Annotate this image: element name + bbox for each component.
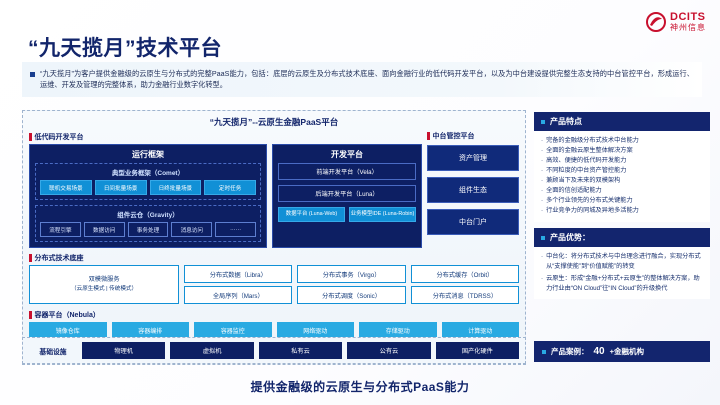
infrastructure-label: 基础设施 (29, 346, 77, 356)
feature-item: ·行业竞争力的同城及异地多活能力 (541, 206, 703, 216)
runtime-head: 运行框架 (30, 145, 266, 163)
tech-cell-libra[interactable]: 分布式数据（Libra） (184, 265, 292, 283)
tech-cell-sonic[interactable]: 分布式调度（Sonic） (297, 286, 405, 304)
section-label-midplatform: 中台管控平台 (427, 131, 519, 141)
gravity-chip[interactable]: …… (215, 222, 256, 237)
gravity-group: 组件云仓（Gravity） 流程引擎 数据访问 事务处理 消息访问 …… (35, 205, 261, 242)
architecture-diagram: “九天揽月”--云原生金融PaaS平台 低代码开发平台 运行框架 典型业务框架（… (22, 110, 526, 365)
gravity-title: 组件云仓（Gravity） (40, 209, 256, 219)
dot-icon: · (541, 206, 543, 216)
dot-icon: · (541, 196, 543, 206)
section-marker-icon (29, 311, 32, 319)
midplatform-portal[interactable]: 中台门户 (427, 209, 519, 235)
brand-logo: DCITS 神州信息 (646, 12, 706, 32)
case-suffix: +金融机构 (610, 346, 644, 357)
dev-platform-card: 开发平台 前端开发平台（Vela） 后端开发平台（Luna） 数据平台 (Lun… (272, 144, 422, 248)
dot-icon: · (541, 186, 543, 196)
footer-tagline: 提供金融级的云原生与分布式PaaS能力 (0, 378, 720, 395)
feature-item: ·完备的金融级分布式技术中台能力 (541, 136, 703, 146)
tech-cell-tdrss[interactable]: 分布式消息（TDRSS） (411, 286, 519, 304)
luna-web-card[interactable]: 数据平台 (Luna-Web) (278, 207, 345, 222)
advantages-panel: 产品优势： ·中台化：将分布式技术与中台理念进行融合，实现分布式从“支撑使能”到… (534, 228, 710, 299)
infra-cell-domestic-hardware[interactable]: 国产化硬件 (436, 342, 519, 359)
gravity-chip[interactable]: 流程引擎 (40, 222, 81, 237)
back-dev-platform[interactable]: 后端开发平台（Luna） (278, 185, 416, 202)
section-label-container: 容器平台（Nebula） (29, 310, 525, 320)
feature-item: ·全面的信创适配能力 (541, 186, 703, 196)
bullet-square-icon (541, 236, 545, 240)
dot-icon: · (541, 156, 543, 166)
comet-chip[interactable]: 日终批量场景 (150, 180, 202, 195)
comet-chip[interactable]: 定时任务 (204, 180, 256, 195)
front-dev-platform[interactable]: 前端开发平台（Vela） (278, 163, 416, 180)
infra-cell-public-cloud[interactable]: 公有云 (347, 342, 430, 359)
bullet-square-icon (541, 120, 545, 124)
gravity-chip[interactable]: 消息访问 (171, 222, 212, 237)
features-panel: 产品特点 ·完备的金融级分布式技术中台能力 ·全面的金融云原生整体解决方案 ·高… (534, 112, 710, 222)
bullet-square-icon (542, 350, 546, 354)
gravity-chip[interactable]: 事务处理 (128, 222, 169, 237)
section-marker-icon (29, 133, 32, 141)
midplatform-column: 中台管控平台 资产管理 组件生态 中台门户 (427, 144, 519, 248)
slide-root: DCITS 神州信息 “九天揽月”技术平台 “九天揽月”为客户提供金融级的云原生… (0, 0, 720, 405)
infra-cell-private-cloud[interactable]: 私有云 (259, 342, 342, 359)
runtime-framework-card: 运行框架 典型业务框架（Comet） 联机交易场景 日间批量场景 日终批量场景 … (29, 144, 267, 248)
dot-icon: · (541, 166, 543, 176)
section-label-techbase: 分布式技术底座 (29, 253, 519, 263)
advantages-body: ·中台化：将分布式技术与中台理念进行融合，实现分布式从“支撑使能”到“价值赋能”… (534, 247, 710, 299)
dot-icon: · (541, 146, 543, 156)
feature-item: ·不同粒度的中台资产管控能力 (541, 166, 703, 176)
brand-name-en: DCITS (670, 12, 706, 23)
comet-title: 典型业务框架（Comet） (40, 167, 256, 177)
case-number: 40 (594, 346, 605, 357)
techbase-section: 分布式技术底座 双模微服务 （云原生模式 | 传统模式） 分布式数据（Libra… (23, 253, 525, 304)
tech-cell-mars[interactable]: 全局序列（Mars） (184, 286, 292, 304)
dot-icon: · (541, 252, 543, 271)
dot-icon: · (541, 274, 543, 293)
advantage-item: ·中台化：将分布式技术与中台理念进行融合，实现分布式从“支撑使能”到“价值赋能”… (541, 252, 703, 271)
container-section: 容器平台（Nebula） 镜像仓库 容器编排 容器监控 网络驱动 存储驱动 计算… (23, 310, 525, 339)
advantages-header: 产品优势： (534, 228, 710, 247)
case-panel: 产品案例： 40 +金融机构 (534, 341, 710, 362)
feature-item: ·多个行业领先的分布式关键能力 (541, 196, 703, 206)
brand-name-cn: 神州信息 (670, 24, 706, 32)
section-marker-icon (29, 254, 32, 262)
case-label: 产品案例： (551, 346, 589, 357)
feature-item: ·兼顾当下及未来的双模架构 (541, 176, 703, 186)
advantage-item: ·云原生：形成“金融+分布式+云原生”的整体解决方案，助力行业由“ON Clou… (541, 274, 703, 293)
intro-text: “九天揽月”为客户提供金融级的云原生与分布式的完整PaaS能力，包括：底层的云原… (40, 68, 694, 90)
features-header: 产品特点 (534, 112, 710, 131)
midplatform-component-ecosystem[interactable]: 组件生态 (427, 177, 519, 203)
gravity-chip[interactable]: 数据访问 (84, 222, 125, 237)
features-body: ·完备的金融级分布式技术中台能力 ·全面的金融云原生整体解决方案 ·高效、便捷的… (534, 131, 710, 222)
dot-icon: · (541, 136, 543, 146)
dcits-logo-icon (646, 12, 666, 32)
bullet-square-icon (30, 72, 35, 77)
feature-item: ·高效、便捷的低代码开发能力 (541, 156, 703, 166)
feature-item: ·全面的金融云原生整体解决方案 (541, 146, 703, 156)
comet-chip[interactable]: 日间批量场景 (95, 180, 147, 195)
dev-head: 开发平台 (273, 145, 421, 163)
comet-group: 典型业务框架（Comet） 联机交易场景 日间批量场景 日终批量场景 定时任务 (35, 163, 261, 200)
tech-cell-orbit[interactable]: 分布式缓存（Orbit） (411, 265, 519, 283)
page-title: “九天揽月”技术平台 (28, 32, 222, 62)
diagram-title: “九天揽月”--云原生金融PaaS平台 (23, 111, 525, 132)
infra-cell-physical[interactable]: 物理机 (82, 342, 165, 359)
intro-band: “九天揽月”为客户提供金融级的云原生与分布式的完整PaaS能力，包括：底层的云原… (22, 62, 702, 97)
dot-icon: · (541, 176, 543, 186)
comet-chip[interactable]: 联机交易场景 (40, 180, 92, 195)
midplatform-asset-management[interactable]: 资产管理 (427, 145, 519, 171)
lowcode-row: 运行框架 典型业务框架（Comet） 联机交易场景 日间批量场景 日终批量场景 … (23, 144, 525, 248)
tech-cell-virgo[interactable]: 分布式事务（Virgo） (297, 265, 405, 283)
luna-robin-card[interactable]: 业务模型IDE (Luna-Robin) (349, 207, 416, 222)
dual-mode-microservice[interactable]: 双模微服务 （云原生模式 | 传统模式） (29, 265, 179, 304)
infra-cell-virtual[interactable]: 虚拟机 (170, 342, 253, 359)
section-marker-icon (427, 132, 430, 140)
infrastructure-strip: 基础设施 物理机 虚拟机 私有云 公有云 国产化硬件 (22, 337, 526, 364)
